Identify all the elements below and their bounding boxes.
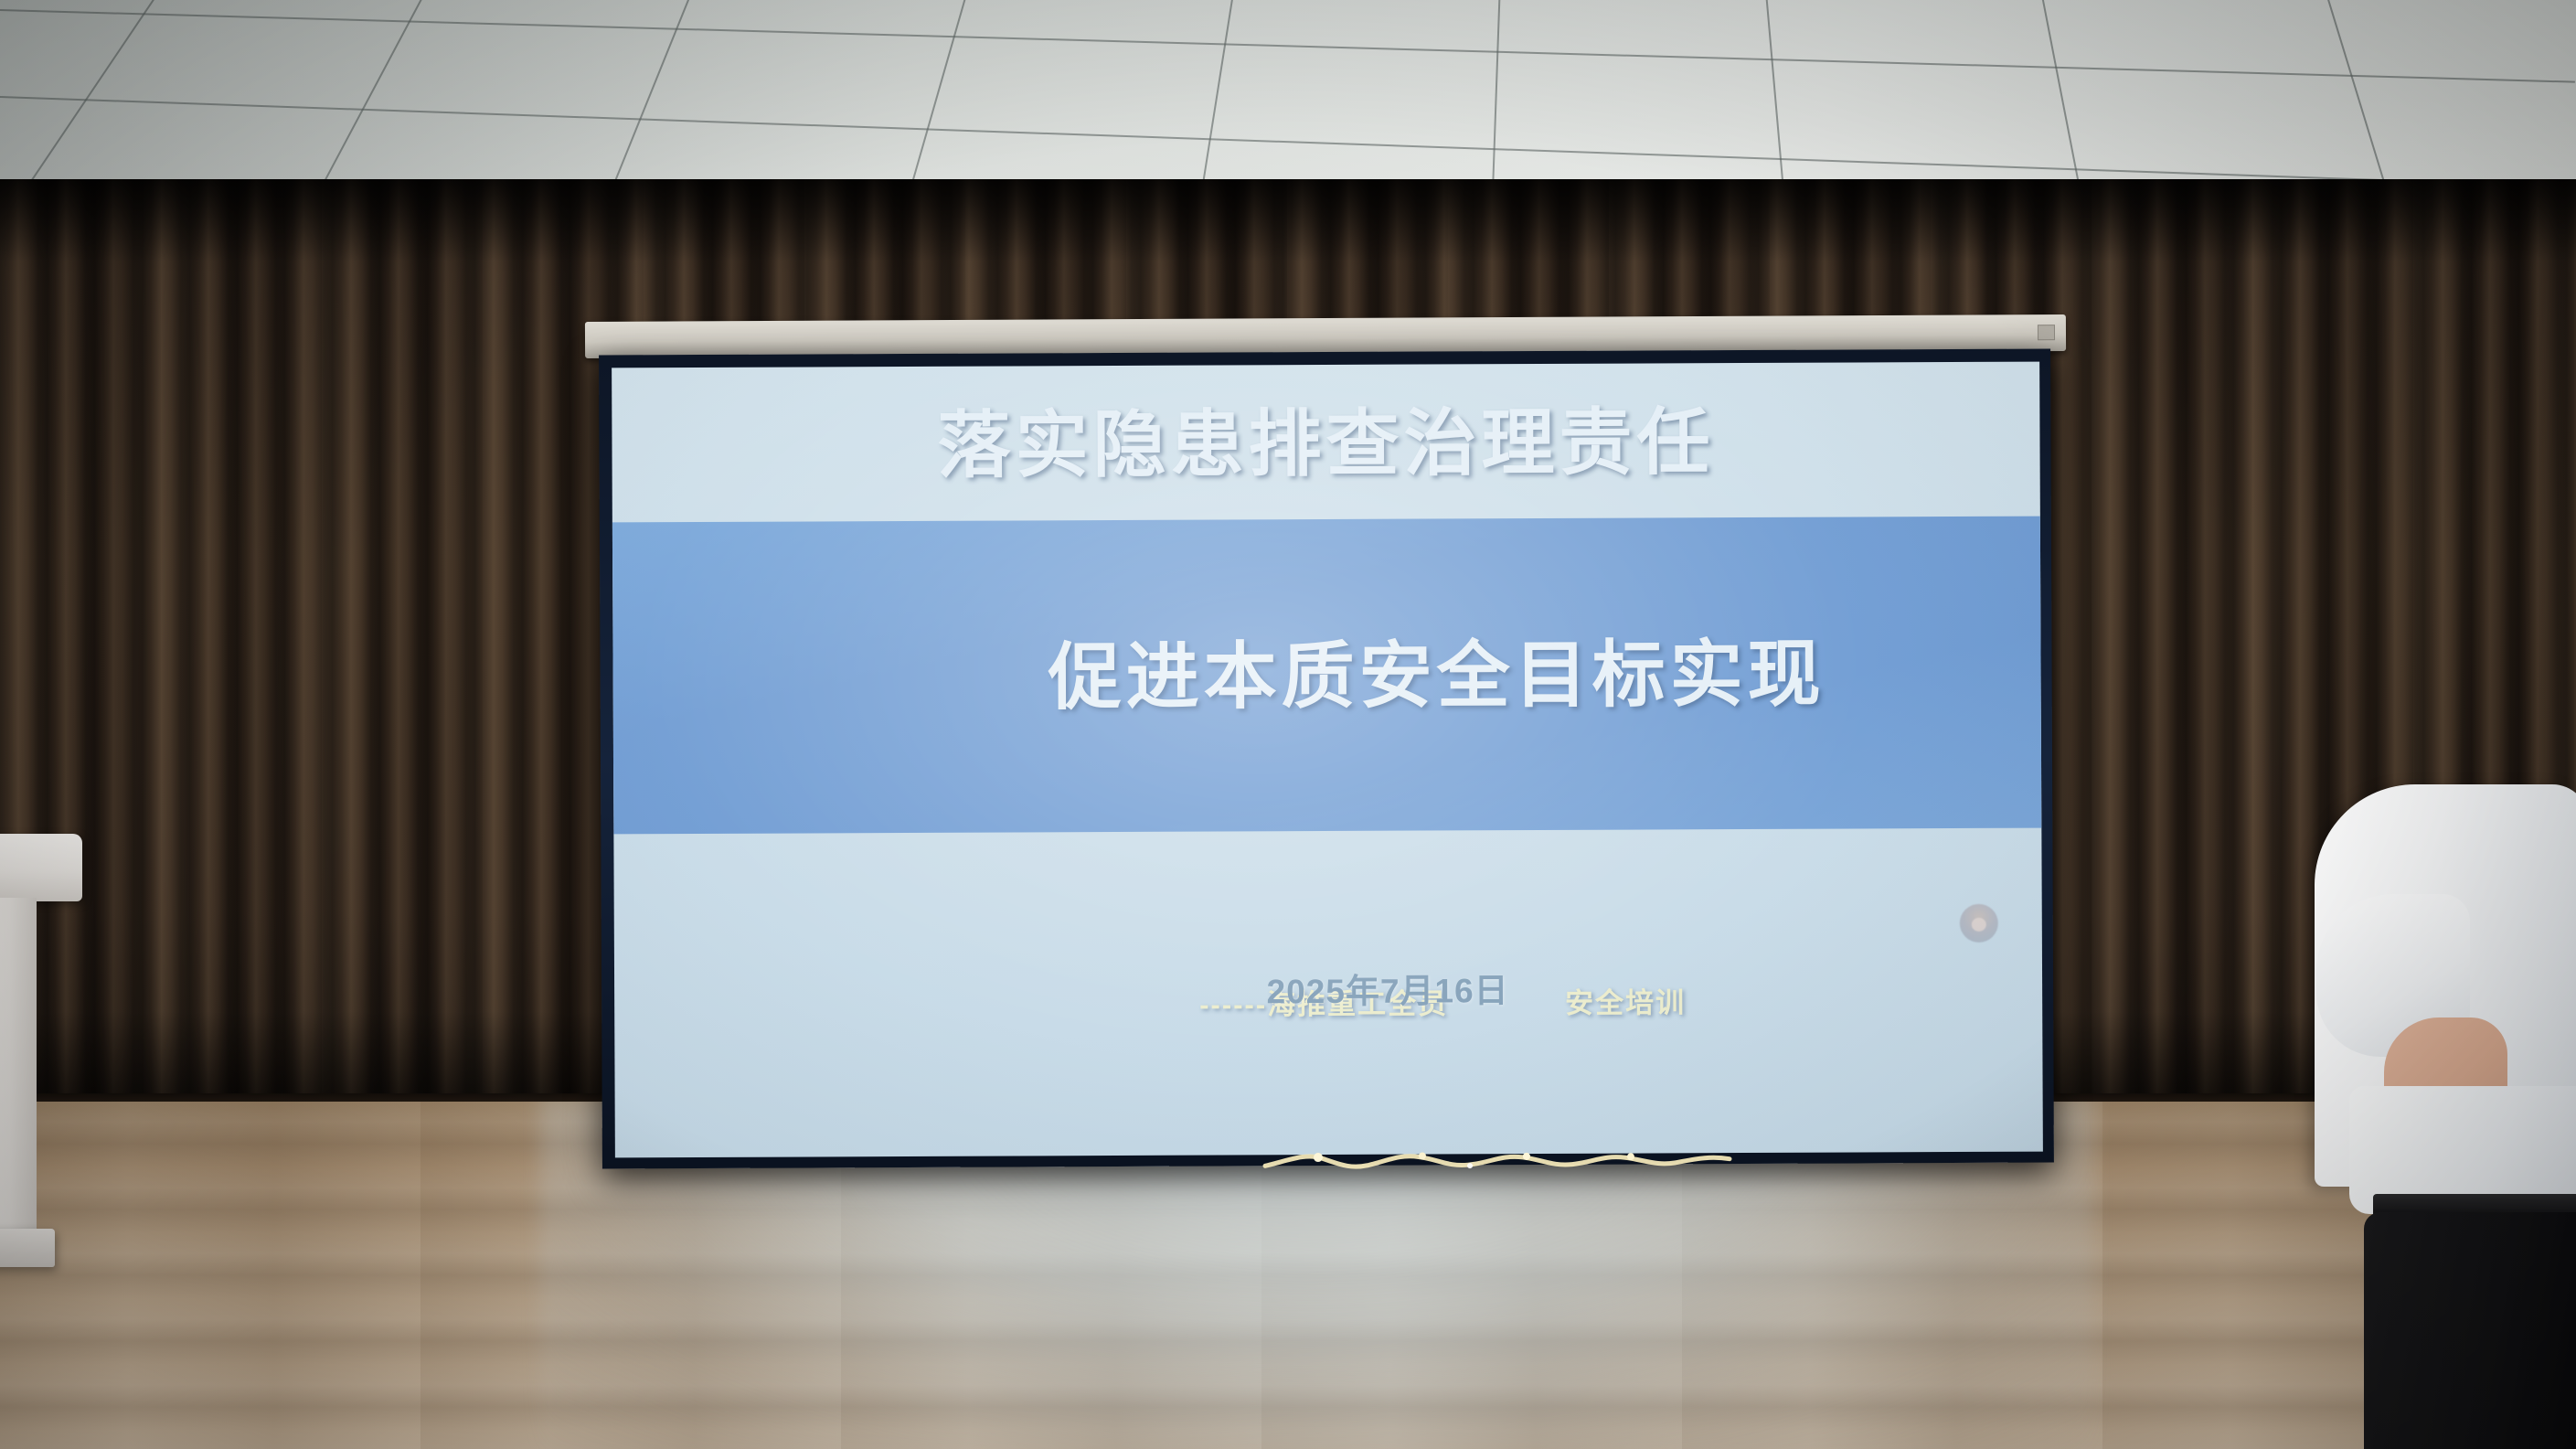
- slide-title-line-1: 落实隐患排查治理责任: [612, 381, 2043, 494]
- person-black-trousers: [2364, 1212, 2576, 1449]
- slide-date: 2025年7月16日: [614, 960, 2042, 1016]
- decorative-string-lights: [1261, 1149, 1737, 1176]
- presentation-slide[interactable]: 落实隐患排查治理责任 促进本质安全目标实现 ------海推重工全员 安全培训 …: [612, 362, 2043, 1158]
- podium-base: [0, 1229, 55, 1267]
- lectern-podium[interactable]: [0, 834, 82, 1291]
- podium-column: [0, 898, 37, 1236]
- podium-top-surface: [0, 834, 82, 901]
- presenter-avatar-icon: [1959, 904, 1997, 943]
- conference-room-scene: 落实隐患排查治理责任 促进本质安全目标实现 ------海推重工全员 安全培训 …: [0, 0, 2576, 1449]
- person-figure: [2283, 784, 2576, 1449]
- slide-title-line-2: 促进本质安全目标实现: [612, 614, 2043, 727]
- projection-screen[interactable]: 落实隐患排查治理责任 促进本质安全目标实现 ------海推重工全员 安全培训 …: [599, 349, 2054, 1169]
- string-lights-icon: [1261, 1149, 1737, 1176]
- curtain-top-shadow: [0, 179, 2576, 261]
- housing-end-cap: [2038, 325, 2055, 340]
